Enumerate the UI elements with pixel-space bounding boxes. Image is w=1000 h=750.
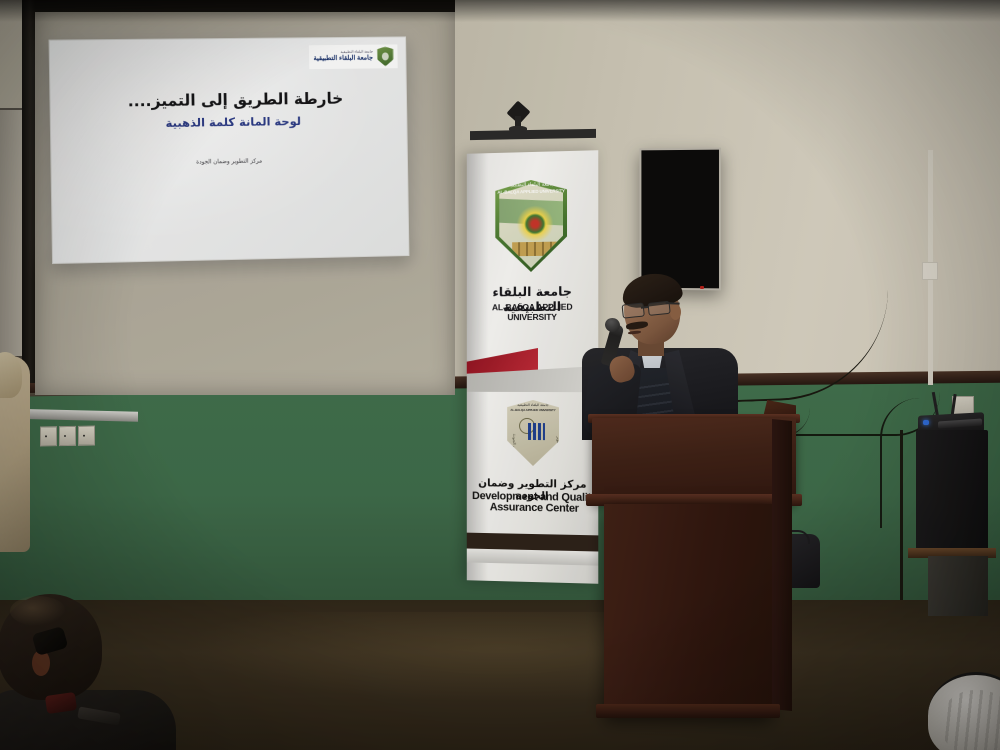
av-equipment-box <box>916 430 988 550</box>
slide-footer: مركز التطوير وضمان الجودة <box>108 157 348 167</box>
podium-top-panel <box>592 418 796 504</box>
dqac-arc-left: وضمان الجودة <box>505 414 517 458</box>
equipment-pole <box>900 430 903 600</box>
dqac-seal-english: AL-BALQA APPLIED UNIVERSITY <box>507 408 559 412</box>
dqac-seal: جامعة البلقاء التطبيقية AL-BALQA APPLIED… <box>507 400 559 466</box>
rollup-banner: جامعة البلقاء التطبيقية AL-BALQA APPLIED… <box>467 150 599 584</box>
slide-glare <box>50 37 409 263</box>
university-shield-emblem: جامعة البلقاء التطبيقية AL-BALQA APPLIED… <box>495 179 567 272</box>
banner-center-english-line2: Assurance Center <box>469 502 601 515</box>
audience-member-front-left <box>0 586 195 750</box>
shield-wall-motif <box>512 242 558 257</box>
dqac-seal-arabic: جامعة البلقاء التطبيقية <box>507 403 559 407</box>
speaker <box>580 276 740 436</box>
equipment-lower-unit <box>928 556 988 616</box>
wall-outlet <box>78 426 95 446</box>
banner-center-english: Development and Quality Assurance Center <box>469 491 601 515</box>
slide-logo: جامعة البلقاء التطبيقية جامعة البلقاء ال… <box>309 44 397 69</box>
audience-hair-highlight <box>10 596 66 626</box>
university-shield-icon <box>377 46 394 66</box>
banner-university-english: AL-BALQA APPLIED UNIVERSITY <box>467 301 599 322</box>
podium-base <box>596 704 780 718</box>
shield-inner <box>499 183 563 268</box>
presentation-slide: جامعة البلقاء التطبيقية جامعة البلقاء ال… <box>49 36 410 264</box>
slide-logo-main-line: جامعة البلقاء التطبيقية <box>313 56 373 63</box>
dqac-bars <box>528 423 545 440</box>
dqac-mark-icon <box>519 416 549 444</box>
wall-mounted-television <box>639 148 721 291</box>
lecture-hall-photo: جامعة البلقاء التطبيقية جامعة البلقاء ال… <box>0 0 1000 750</box>
mounted-camera <box>508 104 528 134</box>
slide-subtitle: لوحة المانة كلمة الذهبية <box>87 113 377 131</box>
slide-title: خارطة الطريق إلى التميز.... <box>85 89 385 111</box>
wall-seam <box>22 0 35 383</box>
wooden-podium <box>604 504 772 716</box>
lens-left <box>622 302 645 318</box>
audience-headcover-folds <box>940 690 1000 750</box>
podium-side-panel <box>772 419 792 711</box>
wall-outlet <box>40 426 57 446</box>
projection-screen-header <box>35 0 455 12</box>
camera-base <box>509 126 527 132</box>
dqac-arc-right: مركز التطوير <box>549 414 561 458</box>
router-status-led <box>923 420 929 425</box>
conduit-junction-box <box>922 262 938 280</box>
wall-outlet <box>59 426 76 446</box>
wall-outlet-group <box>40 426 95 447</box>
